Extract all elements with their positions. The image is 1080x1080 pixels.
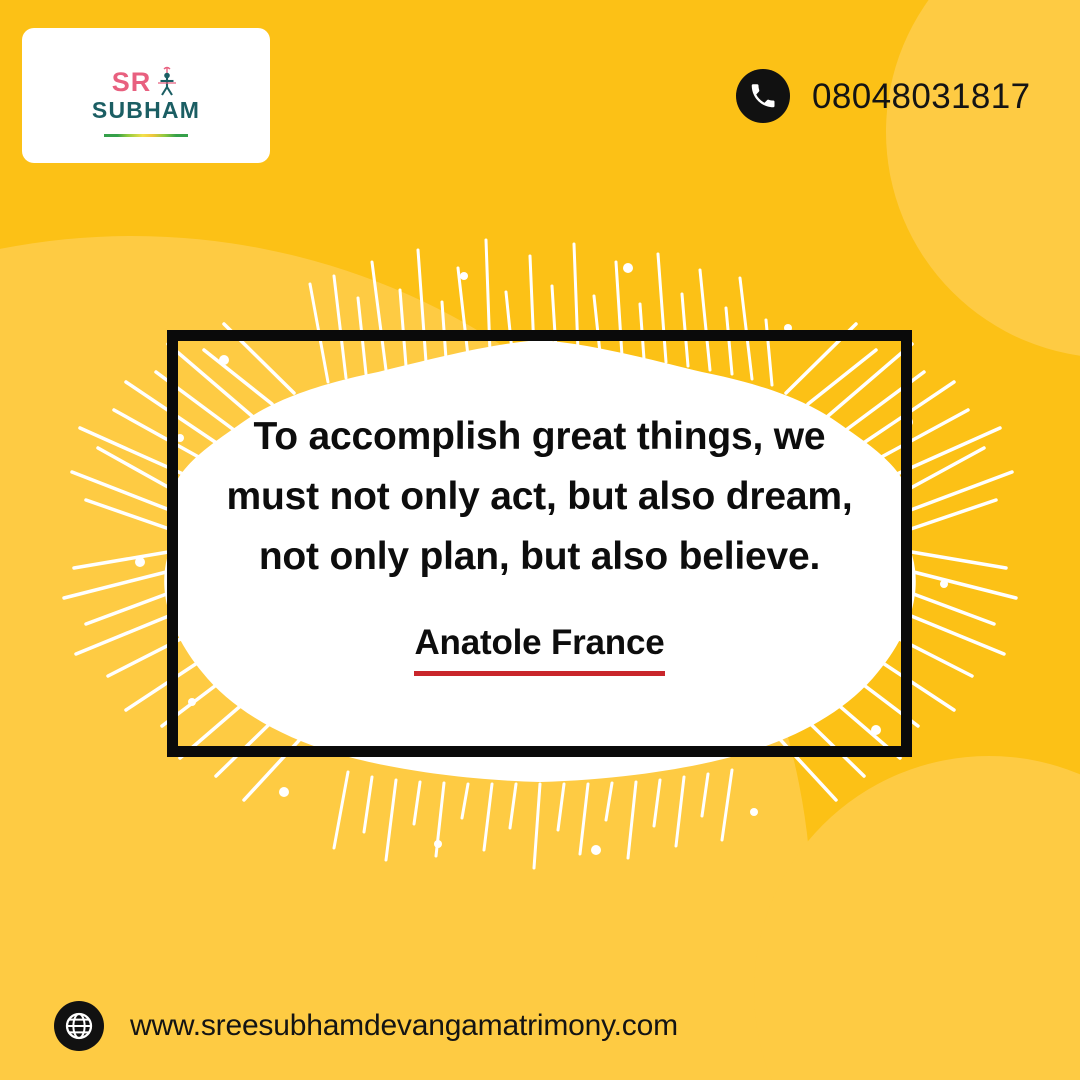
author-underline <box>414 671 664 676</box>
logo-subham-text: SUBHAM <box>92 97 200 123</box>
brand-logo-card[interactable]: SR SUBHAM <box>22 28 270 163</box>
quote-text: To accomplish great things, we must not … <box>227 407 853 586</box>
quote-poster: To accomplish great things, we must not … <box>0 0 1080 1080</box>
couple-figure-icon <box>154 66 180 96</box>
website-url-text: www.sreesubhamdevangamatrimony.com <box>130 1011 678 1041</box>
website-footer[interactable]: www.sreesubhamdevangamatrimony.com <box>54 1001 678 1051</box>
phone-icon <box>736 69 790 123</box>
brand-logo: SR SUBHAM <box>92 66 200 137</box>
quote-frame: To accomplish great things, we must not … <box>167 330 912 757</box>
logo-top-row: SR <box>112 66 181 96</box>
logo-sr-text: SR <box>112 69 152 96</box>
phone-contact[interactable]: 08048031817 <box>736 69 1031 123</box>
phone-number-text: 08048031817 <box>812 79 1031 114</box>
quote-attribution: Anatole France <box>414 624 664 676</box>
quote-content: To accomplish great things, we must not … <box>178 341 901 746</box>
background-circle-top-right <box>886 0 1080 358</box>
logo-gradient-rule <box>104 134 188 137</box>
globe-icon <box>54 1001 104 1051</box>
quote-author: Anatole France <box>414 624 664 663</box>
